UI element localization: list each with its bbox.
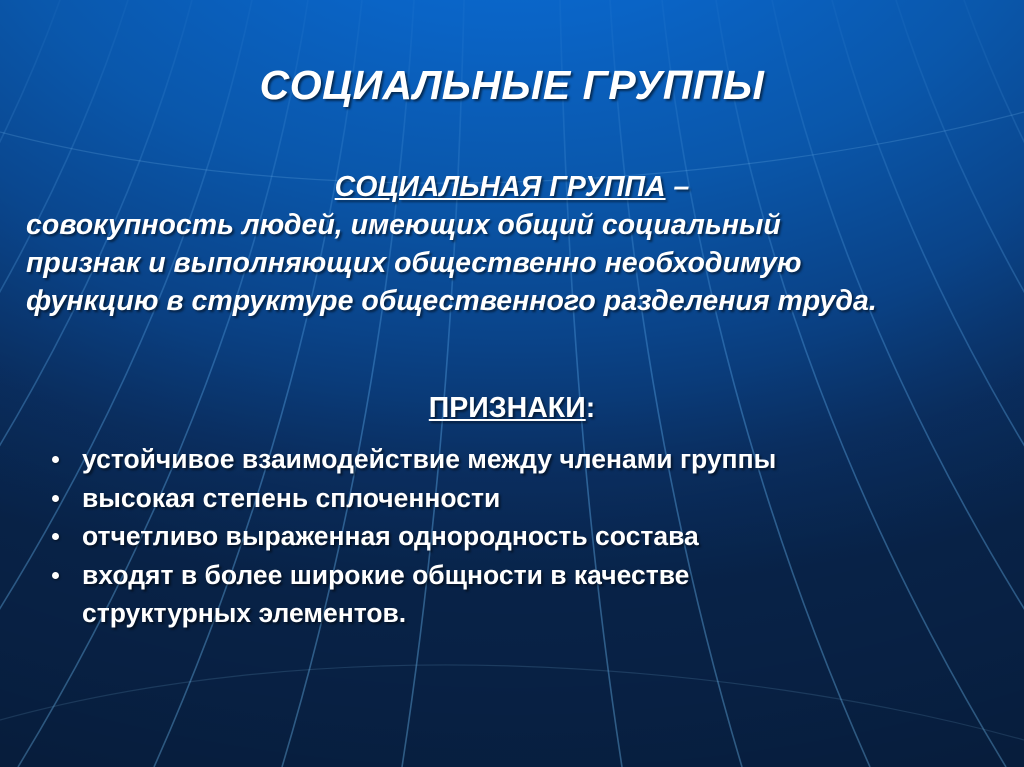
definition-heading-line: СОЦИАЛЬНАЯ ГРУППА – (26, 168, 998, 206)
definition-line-2: признак и выполняющих общественно необхо… (26, 244, 998, 282)
definition-line-1: совокупность людей, имеющих общий социал… (26, 206, 998, 244)
bullet-icon (52, 572, 59, 579)
definition-dash: – (666, 171, 690, 203)
definition-block: СОЦИАЛЬНАЯ ГРУППА – совокупность людей, … (26, 168, 998, 320)
list-item: входят в более широкие общности в качест… (34, 556, 994, 633)
slide-content: СОЦИАЛЬНЫЕ ГРУППЫ СОЦИАЛЬНАЯ ГРУППА – со… (0, 0, 1024, 767)
features-heading-colon: : (586, 392, 596, 424)
bullet-icon (52, 533, 59, 540)
list-item: отчетливо выраженная однородность состав… (34, 517, 994, 556)
list-item-label: высокая степень сплоченности (82, 479, 994, 518)
bullet-icon (52, 495, 59, 502)
presentation-slide: СОЦИАЛЬНЫЕ ГРУППЫ СОЦИАЛЬНАЯ ГРУППА – со… (0, 0, 1024, 767)
definition-line-3: функцию в структуре общественного раздел… (26, 282, 998, 320)
list-item-label-wrap: структурных элементов. (82, 598, 406, 628)
bullet-icon (52, 456, 59, 463)
list-item-label: входят в более широкие общности в качест… (82, 556, 994, 595)
list-item-label: устойчивое взаимодействие между членами … (82, 440, 994, 479)
features-list: устойчивое взаимодействие между членами … (34, 440, 994, 633)
features-heading: ПРИЗНАКИ: (0, 392, 1024, 425)
definition-term: СОЦИАЛЬНАЯ ГРУППА (335, 171, 666, 203)
list-item-label: отчетливо выраженная однородность состав… (82, 517, 994, 556)
list-item: высокая степень сплоченности (34, 479, 994, 518)
features-heading-text: ПРИЗНАКИ (429, 392, 586, 424)
list-item: устойчивое взаимодействие между членами … (34, 440, 994, 479)
page-title: СОЦИАЛЬНЫЕ ГРУППЫ (0, 62, 1024, 109)
